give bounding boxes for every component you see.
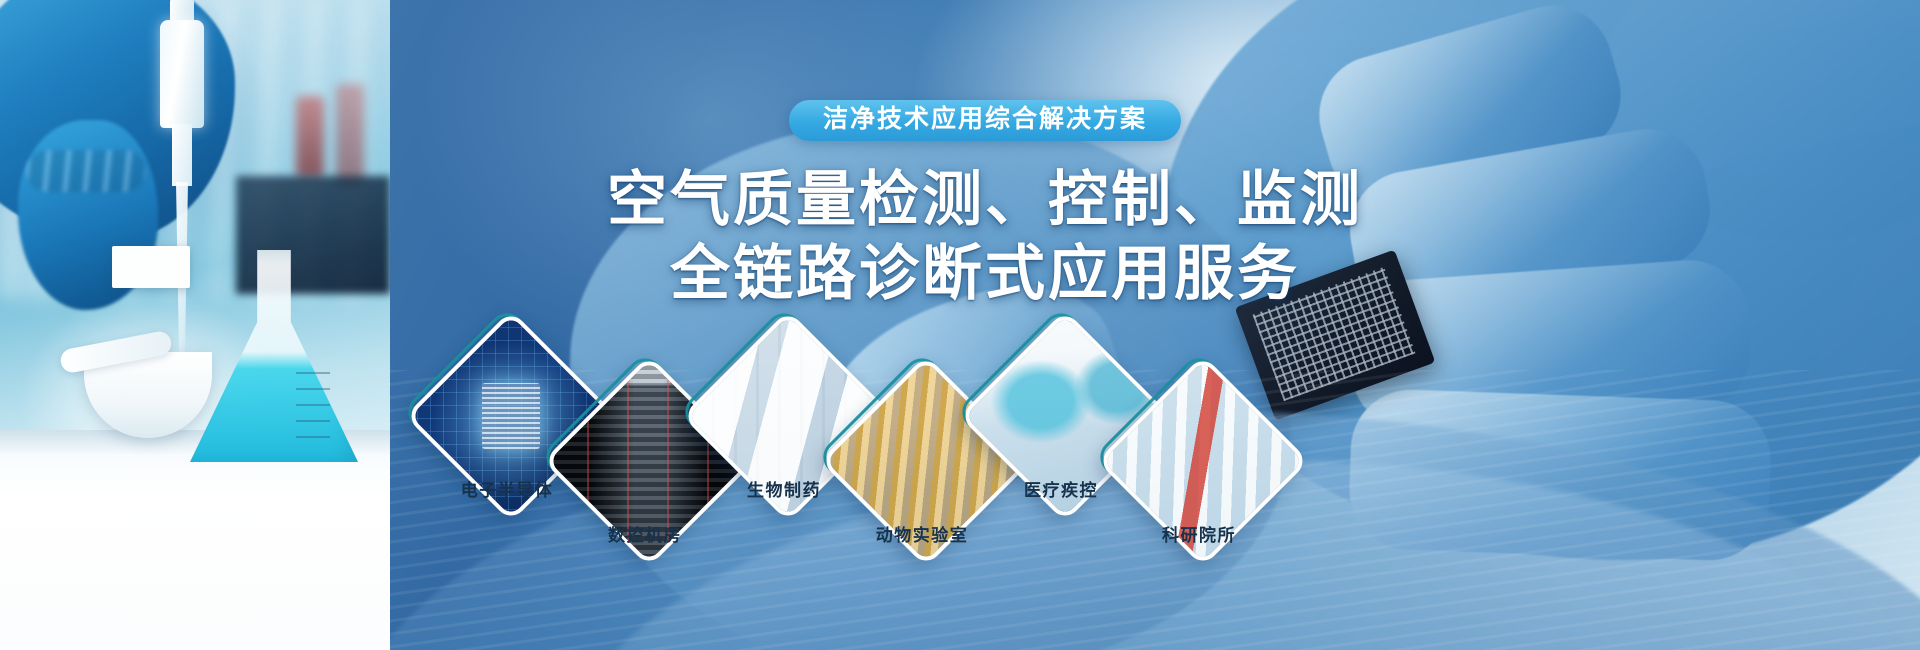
card-label-1: 数控机房	[535, 527, 755, 544]
tagline-badge: 洁净技术应用综合解决方案	[789, 100, 1181, 141]
white-label-card	[112, 246, 190, 288]
card-label-5: 科研院所	[1089, 527, 1309, 544]
banner-copy: 洁净技术应用综合解决方案 空气质量检测、控制、监测 全链路诊断式应用服务	[470, 100, 1500, 312]
glove-fingers-shape	[26, 150, 146, 192]
page-title: 空气质量检测、控制、监测 全链路诊断式应用服务	[470, 163, 1500, 312]
red-vial-secondary-icon	[336, 84, 364, 184]
card-label-3: 动物实验室	[812, 527, 1032, 544]
hero-banner: 洁净技术应用综合解决方案 空气质量检测、控制、监测 全链路诊断式应用服务 电子半…	[0, 0, 1920, 650]
pipette-neck-icon	[172, 124, 192, 186]
red-vial-icon	[296, 96, 324, 178]
industry-card-row: 电子半导体 数控机房 生物制药 动物实验室	[0, 320, 1920, 650]
pipette-body-icon	[160, 20, 204, 128]
headline-line-2: 全链路诊断式应用服务	[470, 237, 1500, 311]
headline-line-1: 空气质量检测、控制、监测	[470, 163, 1500, 237]
